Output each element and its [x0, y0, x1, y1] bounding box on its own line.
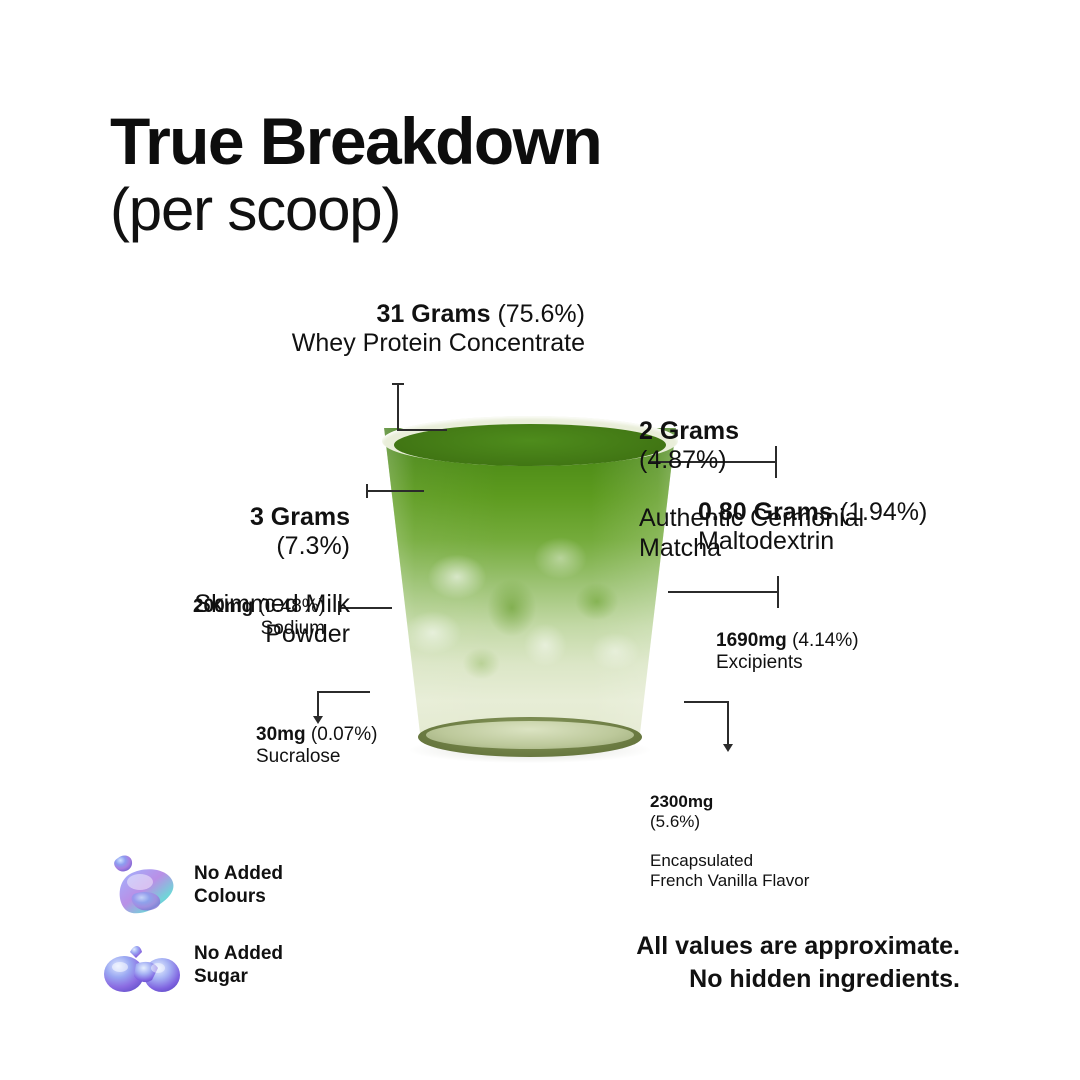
- callout-percent: (1.94%): [840, 498, 928, 526]
- glass-sheen: [378, 428, 682, 738]
- callout-amount: 2300mg: [650, 792, 713, 811]
- iridescent-molecule-icon: [100, 930, 186, 1002]
- glass-base-inner: [426, 721, 634, 749]
- callout-encapsulated-french-vanilla-flavor: 2300mg (5.6%) Encapsulated French Vanill…: [650, 752, 900, 911]
- callout-value-row: 200mg (0.48%): [120, 596, 325, 618]
- callout-value-row: 0.80 Grams (1.94%): [698, 498, 978, 527]
- title-line-primary: True Breakdown: [110, 108, 601, 174]
- callout-percent: (7.3%): [276, 532, 350, 560]
- callout-ingredient-name: Sodium: [120, 618, 325, 640]
- callout-ingredient-name: Maltodextrin: [698, 527, 978, 556]
- callout-amount: 30mg: [256, 724, 306, 745]
- badge-no-added-colours: No Added Colours: [100, 850, 283, 922]
- callout-value-row: 3 Grams (7.3%): [110, 473, 350, 561]
- callout-skimmed-milk-powder: 3 Grams (7.3%) Skimmed Milk Powder: [110, 444, 350, 678]
- callout-value-row: 31 Grams (75.6%): [180, 300, 585, 329]
- badge-label: No Added Colours: [194, 863, 283, 909]
- callout-percent: (4.87%): [639, 446, 727, 474]
- infographic-canvas: True Breakdown (per scoop): [0, 0, 1080, 1080]
- callout-amount: 200mg: [193, 596, 253, 617]
- iridescent-blob-icon: [100, 850, 186, 922]
- callout-percent: (5.6%): [650, 812, 700, 831]
- callout-ingredient-name: Excipients: [716, 652, 976, 674]
- callout-ingredient-name: Encapsulated French Vanilla Flavor: [650, 851, 900, 891]
- badge-no-added-sugar: No Added Sugar: [100, 930, 283, 1002]
- connector-sucralose-arrow: [313, 716, 323, 724]
- callout-authentic-cermonial-matcha: 2 Grams (4.87%) Authentic Cermonial Matc…: [639, 358, 939, 592]
- callout-amount: 2 Grams: [639, 417, 739, 445]
- connector-sucralose: [318, 692, 370, 720]
- callout-amount: 0.80 Grams: [698, 498, 833, 526]
- callout-percent: (0.07%): [311, 724, 378, 745]
- matcha-surface: [394, 424, 666, 466]
- title-line-secondary: (per scoop): [110, 180, 601, 240]
- callout-sodium: 200mg (0.48%) Sodium: [120, 596, 325, 640]
- callout-percent: (75.6%): [497, 300, 585, 328]
- callout-maltodextrin: 0.80 Grams (1.94%) Maltodextrin: [698, 498, 978, 557]
- footnote-text: All values are approximate. No hidden in…: [636, 930, 960, 995]
- callout-excipients: 1690mg (4.14%) Excipients: [716, 630, 976, 674]
- callout-sucralose: 30mg (0.07%) Sucralose: [256, 724, 456, 768]
- callout-ingredient-name: Whey Protein Concentrate: [180, 329, 585, 358]
- callout-amount: 1690mg: [716, 630, 787, 651]
- callout-value-row: 1690mg (4.14%): [716, 630, 976, 652]
- connector-vanilla-arrow: [723, 744, 733, 752]
- callout-amount: 31 Grams: [377, 300, 491, 328]
- connector-vanilla: [684, 702, 728, 748]
- callout-value-row: 2 Grams (4.87%): [639, 387, 939, 475]
- callout-ingredient-name: Sucralose: [256, 746, 456, 768]
- page-title: True Breakdown (per scoop): [110, 108, 601, 240]
- callout-amount: 3 Grams: [250, 503, 350, 531]
- callout-value-row: 2300mg (5.6%): [650, 772, 900, 832]
- callout-percent: (0.48%): [258, 596, 325, 617]
- callout-percent: (4.14%): [792, 630, 859, 651]
- callout-value-row: 30mg (0.07%): [256, 724, 456, 746]
- callout-whey-protein-concentrate: 31 Grams (75.6%) Whey Protein Concentrat…: [180, 300, 585, 359]
- badge-label: No Added Sugar: [194, 943, 283, 989]
